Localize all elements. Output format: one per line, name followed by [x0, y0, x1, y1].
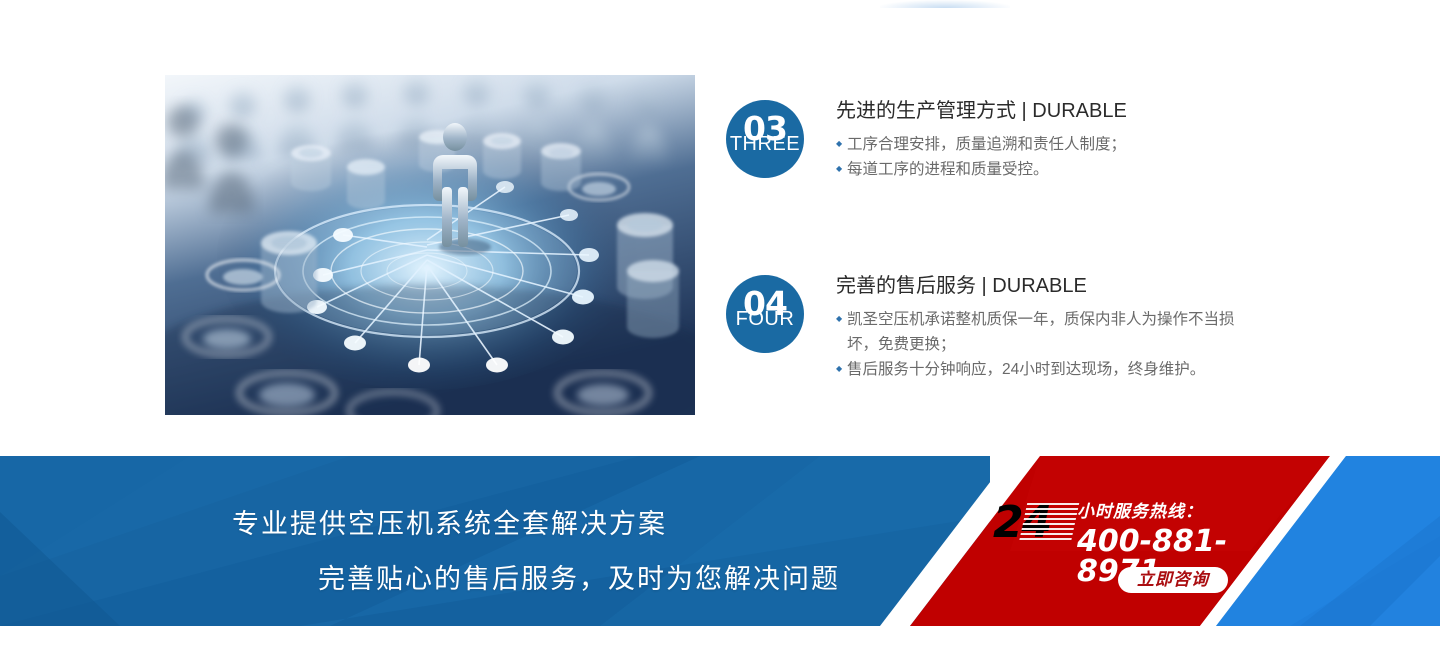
feature-bullet-list: 凯圣空压机承诺整机质保一年，质保内非人为操作不当损坏，免费更换； 售后服务十分钟… — [836, 307, 1246, 382]
hotline-label: 小时服务热线： — [1077, 503, 1203, 520]
feature-bullet: 凯圣空压机承诺整机质保一年，质保内非人为操作不当损坏，免费更换； — [836, 307, 1246, 357]
feature-badge-03: 03 THREE — [726, 100, 804, 178]
banner-slogan: 专业提供空压机系统全套解决方案 完善贴心的售后服务，及时为您解决问题 — [0, 456, 900, 626]
feature-text-04: 完善的售后服务 | DURABLE 凯圣空压机承诺整机质保一年，质保内非人为操作… — [836, 273, 1246, 382]
feature-title: 先进的生产管理方式 | DURABLE — [836, 98, 1246, 124]
feature-bullet-list: 工序合理安排，质量追溯和责任人制度； 每道工序的进程和质量受控。 — [836, 132, 1246, 182]
network-illustration-svg — [165, 75, 695, 415]
feature-text-03: 先进的生产管理方式 | DURABLE 工序合理安排，质量追溯和责任人制度； 每… — [836, 98, 1246, 182]
slogan-line-1: 专业提供空压机系统全套解决方案 — [232, 511, 667, 538]
feature-illustration — [165, 75, 695, 415]
feature-title: 完善的售后服务 | DURABLE — [836, 273, 1246, 299]
slogan-line-2: 完善贴心的售后服务，及时为您解决问题 — [318, 566, 840, 593]
consult-now-button[interactable]: 立即咨询 — [1118, 567, 1228, 593]
feature-badge-04: 04 FOUR — [726, 275, 804, 353]
badge-word: THREE — [726, 134, 804, 154]
feature-bullet: 工序合理安排，质量追溯和责任人制度； — [836, 132, 1246, 157]
hotline-hours: 24 — [993, 501, 1050, 545]
feature-bullet: 售后服务十分钟响应，24小时到达现场，终身维护。 — [836, 357, 1246, 382]
feature-bullet: 每道工序的进程和质量受控。 — [836, 157, 1246, 182]
hotline-block: 24 小时服务热线： 400-881-8971 立即咨询 — [985, 495, 1285, 615]
top-edge-smudge — [880, 0, 1010, 8]
badge-word: FOUR — [726, 309, 804, 329]
